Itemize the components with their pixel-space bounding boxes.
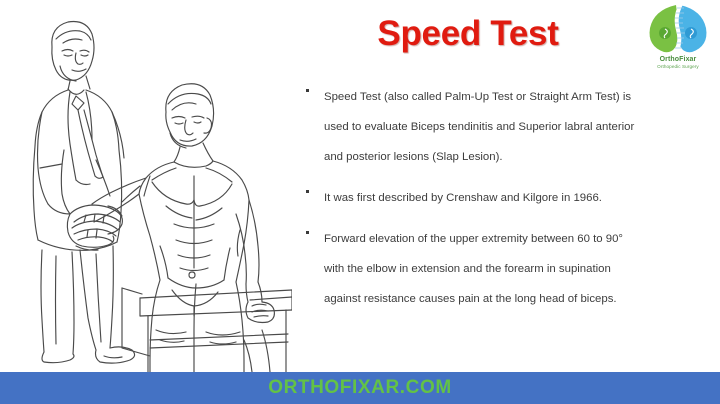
bullet-line: Speed Test (also called Palm-Up Test or … (324, 82, 718, 112)
illustration-svg (0, 0, 292, 372)
bullet-list: Speed Test (also called Palm-Up Test or … (300, 82, 718, 325)
square-bullet-icon (306, 190, 309, 193)
page-title: Speed Test (292, 14, 644, 54)
list-item: Forward elevation of the upper extremity… (300, 224, 718, 314)
list-item: Speed Test (also called Palm-Up Test or … (300, 82, 718, 172)
bullet-line: and posterior lesions (Slap Lesion). (324, 142, 718, 172)
square-bullet-icon (306, 89, 309, 92)
square-bullet-icon (306, 231, 309, 234)
speed-test-illustration (0, 0, 292, 372)
bullet-line: with the elbow in extension and the fore… (324, 254, 718, 284)
bullet-line: against resistance causes pain at the lo… (324, 284, 718, 314)
logo-leaf-spine-icon (644, 2, 712, 56)
list-item: It was first described by Crenshaw and K… (300, 183, 718, 213)
content-panel: Speed Test OrthoFi (292, 0, 720, 372)
slide: Speed Test OrthoFi (0, 0, 720, 404)
bullet-line: Forward elevation of the upper extremity… (324, 224, 718, 254)
orthofixar-logo[interactable]: OrthoFixar Orthopedic Surgery (644, 2, 712, 78)
bullet-line: It was first described by Crenshaw and K… (324, 183, 718, 213)
footer-website-label[interactable]: ORTHOFIXAR.COM (268, 377, 452, 399)
logo-mark (644, 2, 712, 56)
logo-wordmark: OrthoFixar (644, 56, 712, 64)
bullet-line: used to evaluate Biceps tendinitis and S… (324, 112, 718, 142)
logo-tagline: Orthopedic Surgery (644, 64, 712, 70)
footer-banner: ORTHOFIXAR.COM (0, 372, 720, 404)
